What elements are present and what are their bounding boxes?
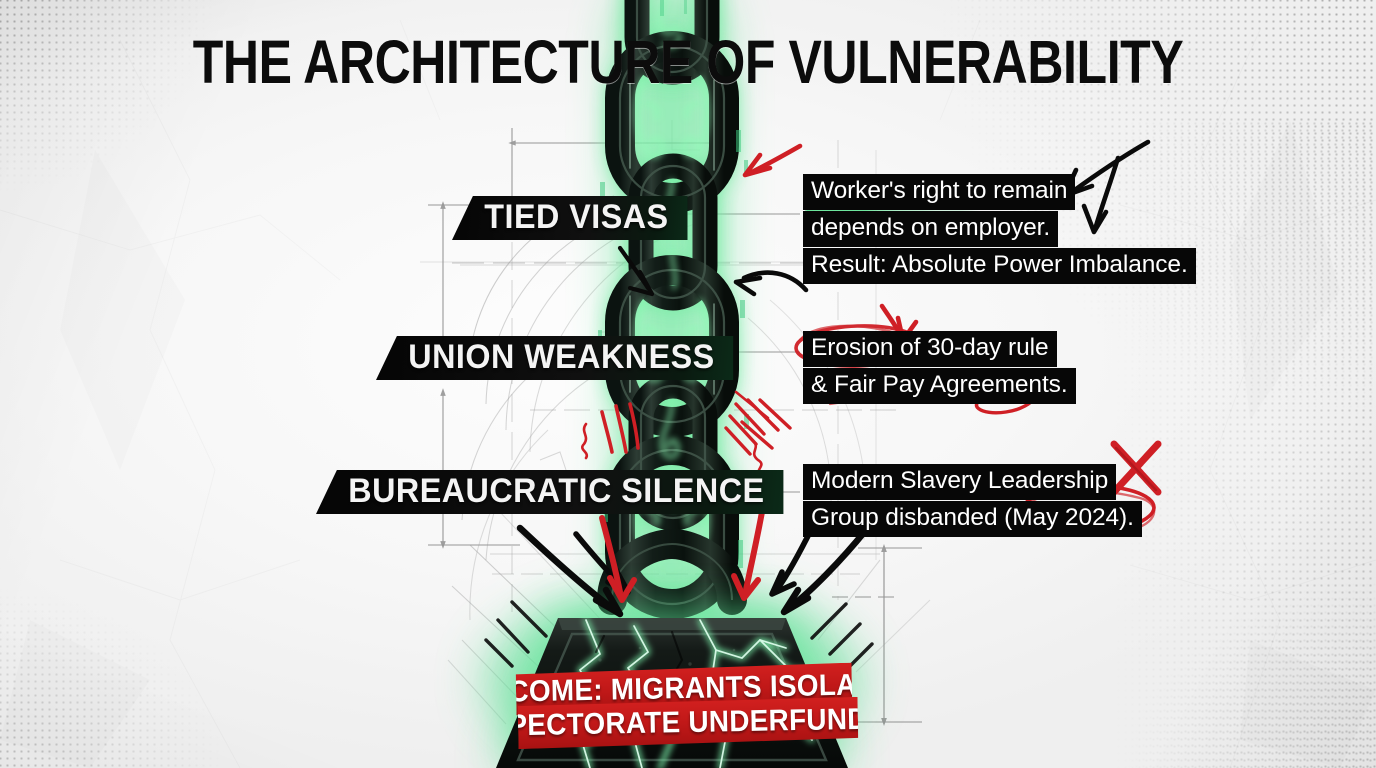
poster-canvas: THE ARCHITECTURE OF VULNERABILITY TIED V… bbox=[0, 0, 1376, 768]
black-arrow-into-chain-right bbox=[736, 273, 806, 294]
note-bureaucratic-silence: Modern Slavery Leadership Group disbande… bbox=[803, 464, 1142, 538]
pillar-tag-tied-visas[interactable]: TIED VISAS bbox=[452, 196, 688, 240]
pillar-label: BUREAUCRATIC SILENCE bbox=[348, 472, 764, 511]
pillar-label: TIED VISAS bbox=[484, 198, 668, 237]
red-hatch-right bbox=[726, 392, 790, 476]
halftone-bottom-left bbox=[0, 538, 290, 768]
technical-dimension-lines bbox=[0, 0, 1376, 768]
pillar-tag-bureaucratic-silence[interactable]: BUREAUCRATIC SILENCE bbox=[316, 470, 784, 514]
black-arrow-into-chain-left bbox=[620, 248, 652, 294]
paper-fold-shading bbox=[0, 0, 1376, 768]
note-line: & Fair Pay Agreements. bbox=[803, 368, 1076, 404]
red-arrow-to-chain-top bbox=[745, 146, 800, 175]
glowing-chain-and-weight bbox=[0, 0, 1376, 768]
note-line: Worker's right to remain bbox=[803, 174, 1075, 210]
pillar-tag-union-weakness[interactable]: UNION WEAKNESS bbox=[376, 336, 734, 380]
pillar-label: UNION WEAKNESS bbox=[408, 338, 714, 377]
paper-crease-lines bbox=[0, 0, 1376, 768]
note-tied-visas: Worker's right to remain depends on empl… bbox=[803, 174, 1196, 285]
note-union-weakness: Erosion of 30-day rule & Fair Pay Agreem… bbox=[803, 331, 1076, 405]
halftone-bottom-right bbox=[1056, 518, 1376, 768]
page-title: THE ARCHITECTURE OF VULNERABILITY bbox=[124, 32, 1252, 93]
note-line: Group disbanded (May 2024). bbox=[803, 501, 1142, 537]
note-line: Result: Absolute Power Imbalance. bbox=[803, 248, 1196, 284]
outcome-text: INSPECTORATE UNDERFUNDED. bbox=[461, 702, 915, 744]
hand-drawn-annotation-marks bbox=[0, 0, 1376, 768]
note-line: depends on employer. bbox=[803, 211, 1058, 247]
note-line: Modern Slavery Leadership bbox=[803, 464, 1116, 500]
red-hatch-left bbox=[582, 404, 638, 458]
note-line: Erosion of 30-day rule bbox=[803, 331, 1057, 367]
